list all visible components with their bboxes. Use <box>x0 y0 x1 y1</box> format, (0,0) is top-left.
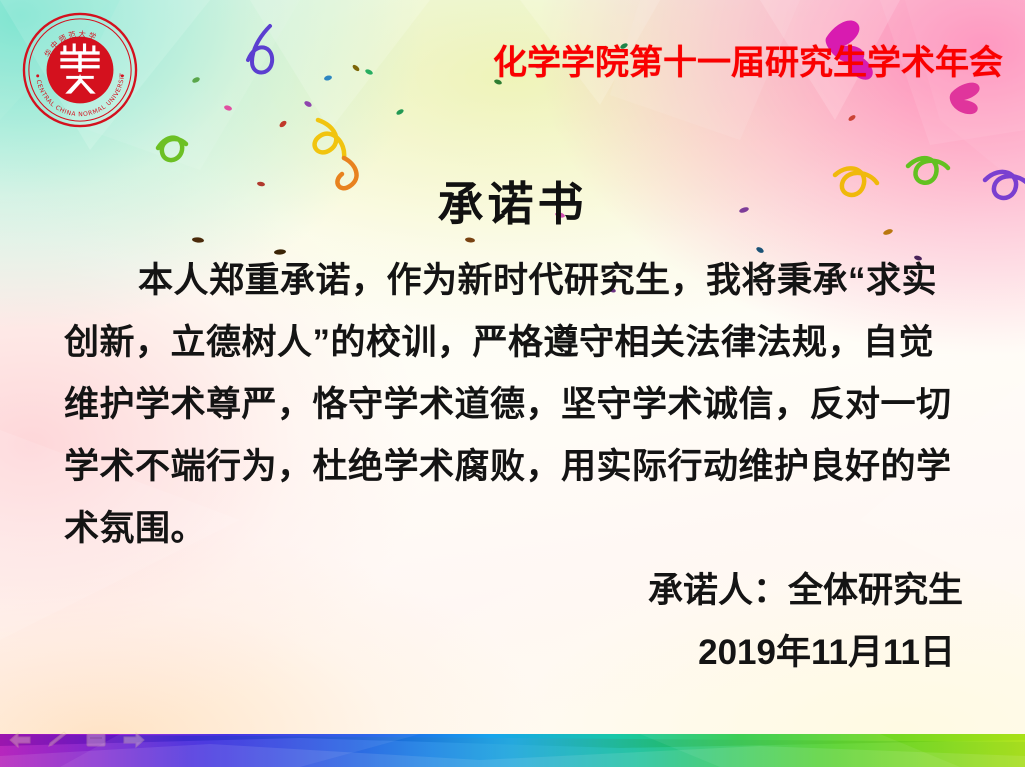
pen-icon[interactable] <box>46 731 70 749</box>
signature-date: 2019年11月11日 <box>648 622 963 684</box>
body-line: 学术不端行为，杜绝学术腐败，用实际行动维护良好的学 <box>64 436 964 498</box>
slide-menu-icon[interactable] <box>84 731 108 749</box>
document-title: 承诺书 <box>0 168 1025 234</box>
signatory-line: 承诺人：全体研究生 <box>648 560 963 622</box>
bottom-color-band <box>0 734 1025 767</box>
next-slide-icon[interactable] <box>122 731 146 749</box>
event-title: 化学学院第十一届研究生学术年会 <box>493 45 1003 82</box>
body-line: 术氛围。 <box>64 498 964 560</box>
signature-block: 承诺人：全体研究生 2019年11月11日 <box>648 560 963 684</box>
body-line: 维护学术尊严，恪守学术道德，坚守学术诚信，反对一切 <box>64 374 964 436</box>
commitment-body: 本人郑重承诺，作为新时代研究生，我将秉承“求实 创新，立德树人”的校训，严格遵守… <box>64 250 964 560</box>
previous-slide-icon[interactable] <box>8 731 32 749</box>
presentation-slide: 华中师范大学 CENTRAL CHINA NORMAL UNIVERSITY <box>0 0 1025 767</box>
slideshow-controls[interactable] <box>8 731 146 749</box>
body-line: 本人郑重承诺，作为新时代研究生，我将秉承“求实 <box>64 250 964 312</box>
body-line: 创新，立德树人”的校训，严格遵守相关法律法规，自觉 <box>64 312 964 374</box>
